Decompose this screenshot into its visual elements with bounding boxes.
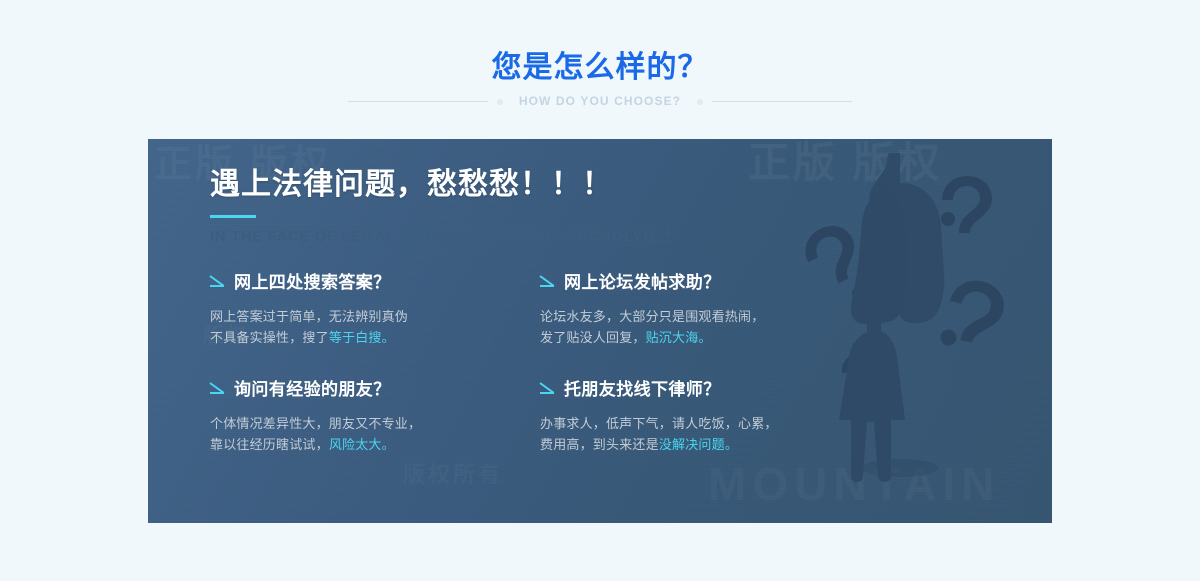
page-title: 您是怎么样的？	[0, 50, 1200, 86]
question-mark-icon-right	[939, 275, 1008, 355]
slash-bullet-icon	[540, 274, 557, 288]
item-title: 网上论坛发帖求助？	[564, 271, 721, 295]
page-subtitle: HOW DO YOU CHOOSE?	[503, 91, 697, 111]
item-desc-highlight: 贴沉大海。	[646, 330, 712, 345]
divider-left-dot	[497, 99, 503, 105]
item-desc-line1: 论坛水友多，大部分只是围观看热闹，	[540, 309, 764, 324]
feature-panel: 正版 版权 正版 版权 MOUNTAIN 版权所有 版权 遇上法律问题，愁愁愁！…	[148, 139, 1052, 523]
slash-bullet-icon	[540, 381, 557, 395]
item-desc-line2: 费用高，到头来还是	[540, 437, 659, 452]
divider-right-dot	[697, 99, 703, 105]
divider-left	[348, 96, 503, 106]
item-desc-line2: 靠以往经历瞎试试，	[210, 437, 329, 452]
item-description: 个体情况差异性大，朋友又不专业， 靠以往经历瞎试试，风险太大。	[210, 413, 540, 455]
divider-left-bar	[348, 101, 488, 102]
item-desc-line1: 办事求人，低声下气，请人吃饭，心累，	[540, 416, 778, 431]
item-title-row: 网上四处搜索答案？	[210, 271, 540, 295]
watermark-d: 版权所有	[403, 457, 503, 489]
item-title-row: 询问有经验的朋友？	[210, 378, 540, 402]
slash-bullet-icon	[210, 274, 227, 288]
item-desc-line2: 不具备实操性，搜了	[210, 330, 329, 345]
list-item: 询问有经验的朋友？ 个体情况差异性大，朋友又不专业， 靠以往经历瞎试试，风险太大…	[210, 378, 540, 455]
item-desc-highlight: 等于白搜。	[329, 330, 395, 345]
section-header: 您是怎么样的？ HOW DO YOU CHOOSE?	[0, 0, 1200, 139]
item-desc-line1: 个体情况差异性大，朋友又不专业，	[210, 416, 421, 431]
item-description: 网上答案过于简单，无法辨别真伪 不具备实操性，搜了等于白搜。	[210, 306, 540, 348]
item-desc-line2: 发了贴没人回复，	[540, 330, 646, 345]
question-mark-icon-top-right	[941, 176, 992, 233]
slash-bullet-icon	[210, 381, 227, 395]
confused-woman-illustration	[792, 153, 1042, 523]
item-title: 网上四处搜索答案？	[234, 271, 391, 295]
list-item: 网上四处搜索答案？ 网上答案过于简单，无法辨别真伪 不具备实操性，搜了等于白搜。	[210, 271, 540, 348]
item-desc-line1: 网上答案过于简单，无法辨别真伪	[210, 309, 408, 324]
item-title: 询问有经验的朋友？	[234, 378, 391, 402]
subtitle-row: HOW DO YOU CHOOSE?	[0, 91, 1200, 111]
accent-bar	[210, 215, 256, 218]
divider-right	[697, 96, 852, 106]
woman-silhouette	[839, 153, 944, 482]
item-title: 托朋友找线下律师？	[564, 378, 721, 402]
item-desc-highlight: 没解决问题。	[659, 437, 738, 452]
item-desc-highlight: 风险太大。	[329, 437, 395, 452]
divider-right-bar	[712, 101, 852, 102]
